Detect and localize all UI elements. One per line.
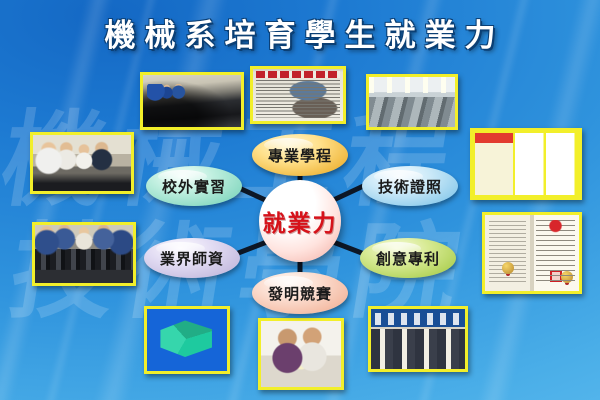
node-industry-faculty[interactable]: 業界師資 (144, 238, 240, 278)
node-professional-courses[interactable]: 專業學程 (252, 134, 348, 176)
node-invention-contest-label: 發明競賽 (268, 283, 332, 304)
node-technical-certification[interactable]: 技術證照 (362, 166, 458, 206)
node-off-campus-internship[interactable]: 校外實習 (146, 166, 242, 206)
node-industry-faculty-label: 業界師資 (160, 248, 224, 269)
node-off-campus-internship-label: 校外實習 (162, 176, 226, 197)
diagram-hub[interactable]: 就業力 (259, 180, 341, 262)
poster-canvas: 機械工程 技術學院 機械系培育學生就業力 (0, 0, 600, 400)
diagram-hub-label: 就業力 (263, 204, 338, 238)
node-invention-contest[interactable]: 發明競賽 (252, 272, 348, 314)
node-creative-patent-label: 創意專利 (376, 248, 440, 269)
node-creative-patent[interactable]: 創意專利 (360, 238, 456, 278)
node-technical-certification-label: 技術證照 (378, 176, 442, 197)
node-professional-courses-label: 專業學程 (268, 145, 332, 166)
